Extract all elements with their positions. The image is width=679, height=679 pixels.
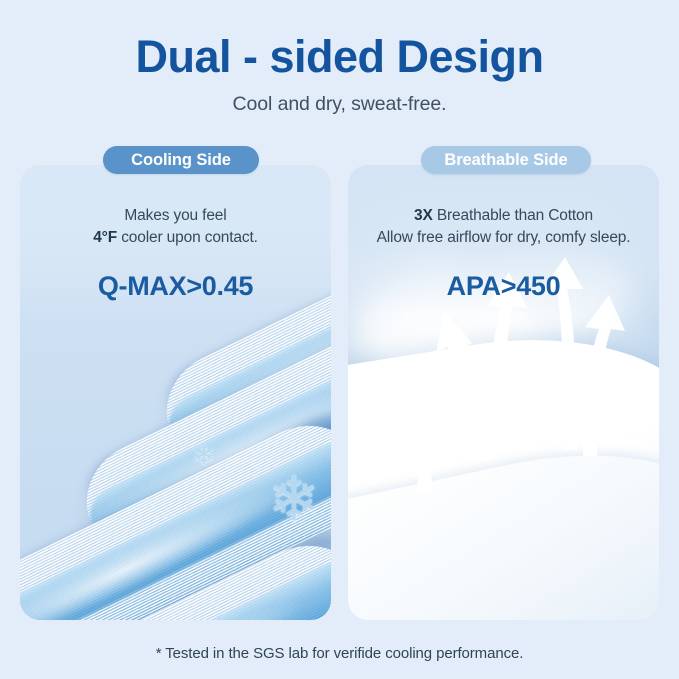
page-subtitle: Cool and dry, sweat-free.: [0, 93, 679, 116]
page-title: Dual - sided Design: [0, 34, 679, 79]
airflow-arrow-icon: [575, 293, 641, 458]
snowflake-icon: ❄: [192, 441, 215, 469]
badge-cooling-side: Cooling Side: [103, 146, 259, 174]
cooling-metric: Q-MAX>0.45: [32, 271, 319, 302]
snowflake-icon: ❄: [268, 469, 320, 531]
infographic-page: Dual - sided Design Cool and dry, sweat-…: [0, 0, 679, 679]
footer-note: * Tested in the SGS lab for verifide coo…: [0, 645, 679, 662]
panel-breathable-side: 3X Breathable than Cotton Allow free air…: [348, 165, 659, 620]
breathable-desc-emphasis: 3X: [414, 207, 433, 224]
panels-row: ❄ ❄ Makes you feel 4°F cooler upon conta…: [0, 146, 679, 624]
cooling-description: Makes you feel 4°F cooler upon contact.: [32, 205, 319, 249]
breathable-desc-line1: Breathable than Cotton: [433, 207, 593, 224]
cooling-desc-emphasis: 4°F: [93, 229, 117, 246]
breathable-desc-line2: Allow free airflow for dry, comfy sleep.: [377, 229, 631, 246]
breathable-metric: APA>450: [360, 271, 647, 302]
panel-cooling-side: ❄ ❄ Makes you feel 4°F cooler upon conta…: [20, 165, 331, 620]
breathable-text-block: 3X Breathable than Cotton Allow free air…: [348, 205, 659, 302]
cooling-desc-line1: Makes you feel: [124, 207, 226, 224]
cooling-desc-line2: cooler upon contact.: [117, 229, 258, 246]
header: Dual - sided Design Cool and dry, sweat-…: [0, 34, 679, 116]
breathable-description: 3X Breathable than Cotton Allow free air…: [360, 205, 647, 249]
badge-breathable-side: Breathable Side: [421, 146, 591, 174]
cooling-text-block: Makes you feel 4°F cooler upon contact. …: [20, 205, 331, 302]
